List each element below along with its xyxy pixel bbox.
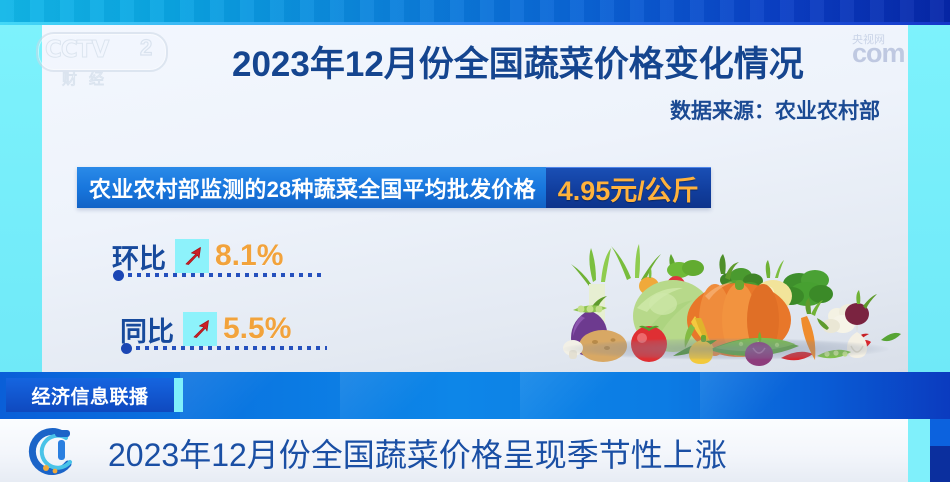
program-tag-accent	[174, 378, 183, 412]
comparison-value-yoy: 5.5%	[223, 312, 291, 346]
comparison-underline-yoy	[121, 343, 327, 353]
right-cyan-rail	[908, 25, 950, 372]
band-chevron-3	[520, 372, 640, 424]
graphic-title: 2023年12月份全国蔬菜价格变化情况	[232, 36, 892, 87]
beet-icon	[845, 290, 877, 325]
comparison-underline-mom	[113, 270, 323, 280]
arrow-up-right-icon	[183, 312, 217, 346]
left-cyan-rail	[0, 25, 42, 372]
green-onion-icon	[611, 244, 661, 282]
bullet-dot-yoy	[121, 343, 132, 354]
lower-third-headline: 2023年12月份全国蔬菜价格呈现季节性上涨	[108, 430, 727, 476]
broadcast-screenshot: CCTV 2 财经 央视网 com 2023年12月份全国蔬菜价格变化情况 数据…	[0, 0, 950, 482]
comparison-value-mom: 8.1%	[215, 239, 283, 273]
dotted-line-yoy	[136, 346, 327, 350]
dotted-line-mom	[128, 273, 323, 277]
top-gradient-bar	[0, 0, 950, 22]
channel-circular-logo	[22, 424, 84, 480]
headline-right-blue-block	[930, 419, 950, 446]
band-chevron-1	[180, 372, 300, 424]
headline-dark-block	[930, 446, 950, 482]
banner-description: 农业农村部监测的28种蔬菜全国平均批发价格	[77, 167, 546, 208]
average-price-banner: 农业农村部监测的28种蔬菜全国平均批发价格 4.95元/公斤	[77, 167, 711, 208]
illustration-ground-shadow	[563, 338, 889, 360]
bullet-dot-mom	[113, 270, 124, 281]
banner-price-value: 4.95元/公斤	[546, 167, 711, 208]
vegetables-illustration	[545, 238, 905, 368]
band-chevron-4	[700, 372, 820, 424]
top-bar-stripe-pattern	[0, 0, 950, 22]
headline-cyan-accent	[908, 419, 930, 482]
graphic-source-label: 数据来源：农业农村部	[232, 95, 880, 125]
program-name-tag: 经济信息联播	[6, 378, 174, 412]
leaf-icon	[881, 333, 901, 341]
band-chevron-2	[340, 372, 460, 424]
arrow-up-right-icon	[175, 239, 209, 273]
